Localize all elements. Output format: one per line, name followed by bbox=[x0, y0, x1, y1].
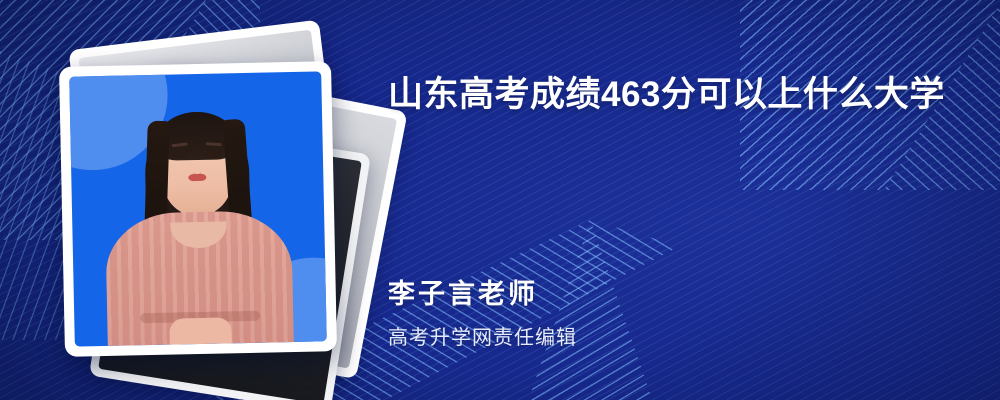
author-photo-frame bbox=[59, 61, 337, 357]
portrait-hands bbox=[169, 317, 232, 344]
avatar bbox=[69, 71, 327, 346]
page-title: 山东高考成绩463分可以上什么大学 bbox=[388, 70, 953, 120]
author-role: 高考升学网责任编辑 bbox=[388, 321, 978, 350]
author-name: 李子言老师 bbox=[388, 272, 978, 311]
author-byline: 李子言老师 高考升学网责任编辑 bbox=[388, 272, 978, 350]
article-cover-banner: 山东高考成绩463分可以上什么大学 李子言老师 高考升学网责任编辑 bbox=[0, 0, 1000, 400]
portrait-figure bbox=[69, 71, 327, 346]
banner-text-column: 山东高考成绩463分可以上什么大学 李子言老师 高考升学网责任编辑 bbox=[388, 0, 978, 400]
photo-card-stack bbox=[62, 42, 352, 357]
